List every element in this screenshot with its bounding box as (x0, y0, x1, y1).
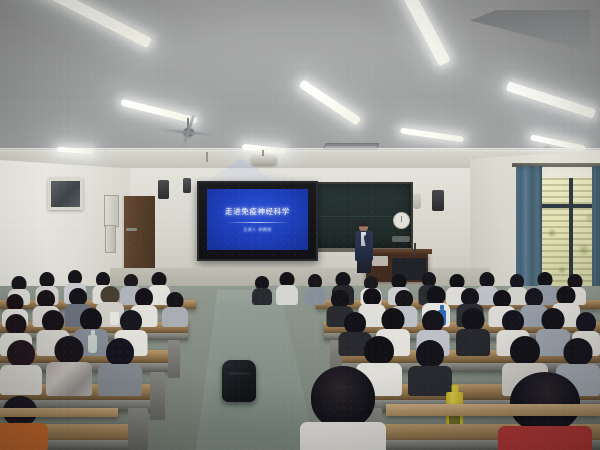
seated-student-foreground (0, 396, 48, 450)
seated-student (162, 292, 188, 326)
seated-student-foreground (300, 366, 386, 450)
seated-student (456, 308, 490, 354)
wall-clock-icon (393, 212, 410, 229)
window-mullion (569, 178, 573, 286)
wall-light-fixture-icon (413, 193, 421, 209)
wall-speaker-icon (183, 178, 191, 193)
slide-content: 走进免疫神经科学 主讲人 李教授 (207, 189, 308, 250)
desk-end-panel (168, 340, 180, 378)
seated-student (0, 340, 42, 392)
seated-student (98, 338, 142, 394)
projector-mount (206, 152, 208, 162)
wall-speaker-icon (158, 180, 169, 199)
backpack-on-floor[interactable] (222, 360, 256, 402)
lecture-hall-photo: 走进免疫神经科学 主讲人 李教授 (0, 0, 600, 450)
seated-student (276, 272, 298, 304)
seated-student (304, 274, 325, 304)
door-handle-icon[interactable] (126, 228, 137, 231)
desk-end-panel (128, 408, 148, 450)
foreground-desk-top (0, 408, 118, 417)
foreground-desk-top (386, 404, 600, 416)
slide-title: 走进免疫神经科学 (225, 206, 290, 217)
wall-control-box[interactable] (104, 195, 119, 227)
seated-student (252, 276, 272, 304)
slide-divider (225, 222, 290, 223)
wall-hatch-window (48, 178, 83, 210)
curtain[interactable] (592, 166, 600, 294)
seated-student-patterned-top (46, 336, 92, 394)
wall-control-box-lower[interactable] (105, 225, 116, 253)
desk-end-panel (150, 372, 165, 420)
microphone-icon (414, 243, 416, 255)
wall-marking (392, 236, 410, 242)
slide-subtitle: 主讲人 李教授 (243, 227, 272, 233)
side-door[interactable] (122, 196, 155, 278)
wall-speaker-icon (432, 190, 444, 211)
presenter-at-lectern (354, 222, 374, 272)
seated-student (408, 340, 452, 394)
ceiling-projector-icon (252, 156, 276, 165)
lectern-papers (372, 256, 388, 266)
window (540, 178, 600, 286)
projection-screen[interactable]: 走进免疫神经科学 主讲人 李教授 (197, 181, 318, 261)
window-mullion (540, 204, 600, 208)
